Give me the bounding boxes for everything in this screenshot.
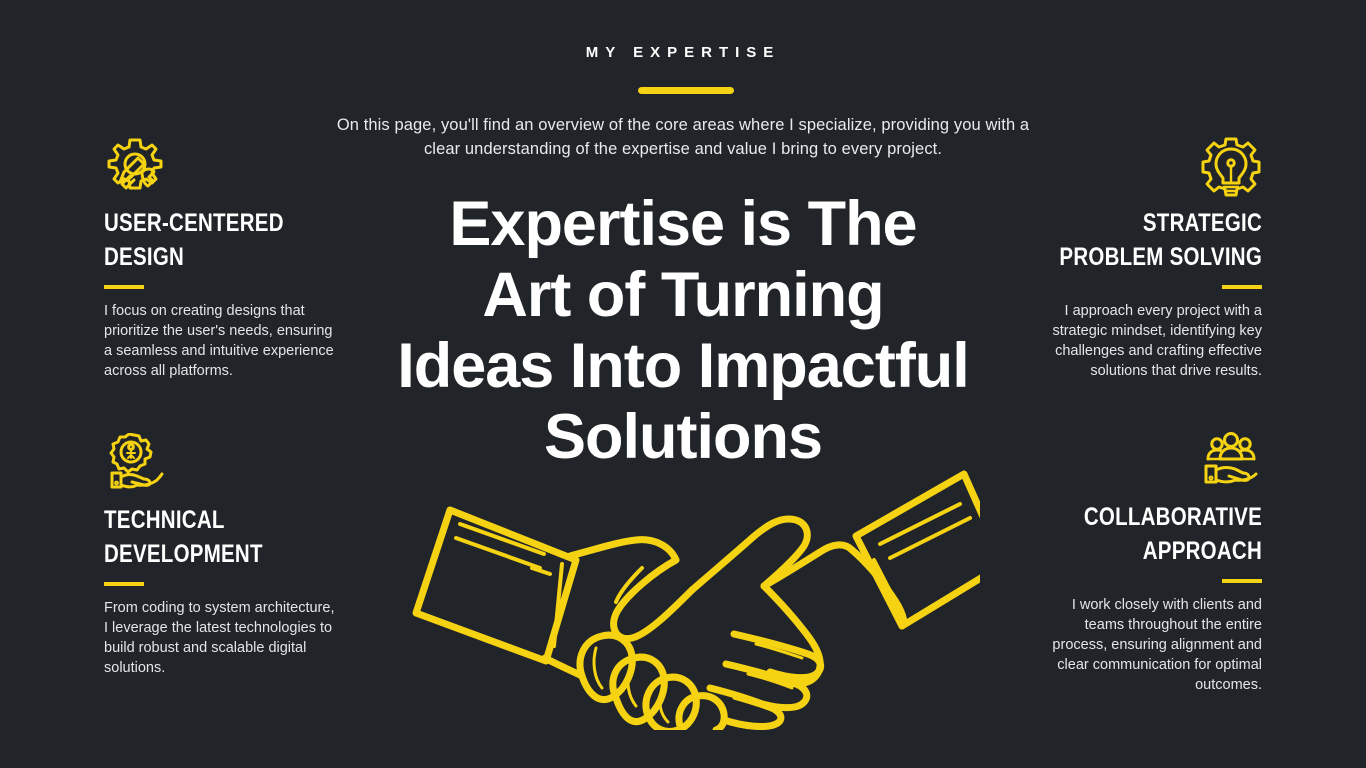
page-intro: On this page, you'll find an overview of…	[333, 113, 1033, 161]
feature-divider-icon	[104, 582, 144, 586]
hand-holding-gear-person-icon	[104, 433, 336, 495]
hand-holding-people-icon	[1030, 430, 1262, 492]
feature-divider-icon	[1222, 285, 1262, 289]
page-eyebrow: MY EXPERTISE	[0, 44, 1366, 61]
handshake-illustration	[404, 468, 980, 730]
headline-line-4: Solutions	[333, 402, 1033, 473]
gear-pencil-wrench-icon	[104, 136, 336, 198]
headline-line-1: Expertise is The	[333, 189, 1033, 260]
feature-title: STRATEGIC PROBLEM SOLVING	[1030, 206, 1262, 274]
feature-body: I work closely with clients and teams th…	[1030, 595, 1262, 695]
feature-body: I approach every project with a strategi…	[1030, 301, 1262, 381]
feature-strategic-problem-solving: STRATEGIC PROBLEM SOLVING I approach eve…	[1030, 136, 1262, 381]
feature-collaborative-approach: COLLABORATIVE APPROACH I work closely wi…	[1030, 430, 1262, 695]
feature-title: COLLABORATIVE APPROACH	[1030, 500, 1262, 568]
feature-user-centered-design: USER-CENTERED DESIGN I focus on creating…	[104, 136, 336, 381]
feature-body: From coding to system architecture, I le…	[104, 598, 336, 678]
headline-line-2: Art of Turning	[333, 260, 1033, 331]
feature-title: TECHNICAL DEVELOPMENT	[104, 503, 336, 571]
feature-title-line-1: STRATEGIC	[1030, 206, 1262, 240]
feature-title-line-2: DESIGN	[104, 240, 336, 274]
feature-title-line-1: USER-CENTERED	[104, 206, 336, 240]
feature-title: USER-CENTERED DESIGN	[104, 206, 336, 274]
header-divider-icon	[638, 87, 734, 94]
headline-line-3: Ideas Into Impactful	[333, 331, 1033, 402]
feature-body: I focus on creating designs that priorit…	[104, 301, 336, 381]
feature-title-line-2: DEVELOPMENT	[104, 537, 336, 571]
feature-title-line-2: APPROACH	[1030, 534, 1262, 568]
feature-title-line-1: COLLABORATIVE	[1030, 500, 1262, 534]
feature-title-line-2: PROBLEM SOLVING	[1030, 240, 1262, 274]
feature-title-line-1: TECHNICAL	[104, 503, 336, 537]
lightbulb-gear-icon	[1030, 136, 1262, 198]
page-headline: Expertise is The Art of Turning Ideas In…	[333, 189, 1033, 473]
feature-divider-icon	[1222, 579, 1262, 583]
feature-divider-icon	[104, 285, 144, 289]
feature-technical-development: TECHNICAL DEVELOPMENT From coding to sys…	[104, 433, 336, 678]
expertise-slide: MY EXPERTISE On this page, you'll find a…	[0, 0, 1366, 768]
